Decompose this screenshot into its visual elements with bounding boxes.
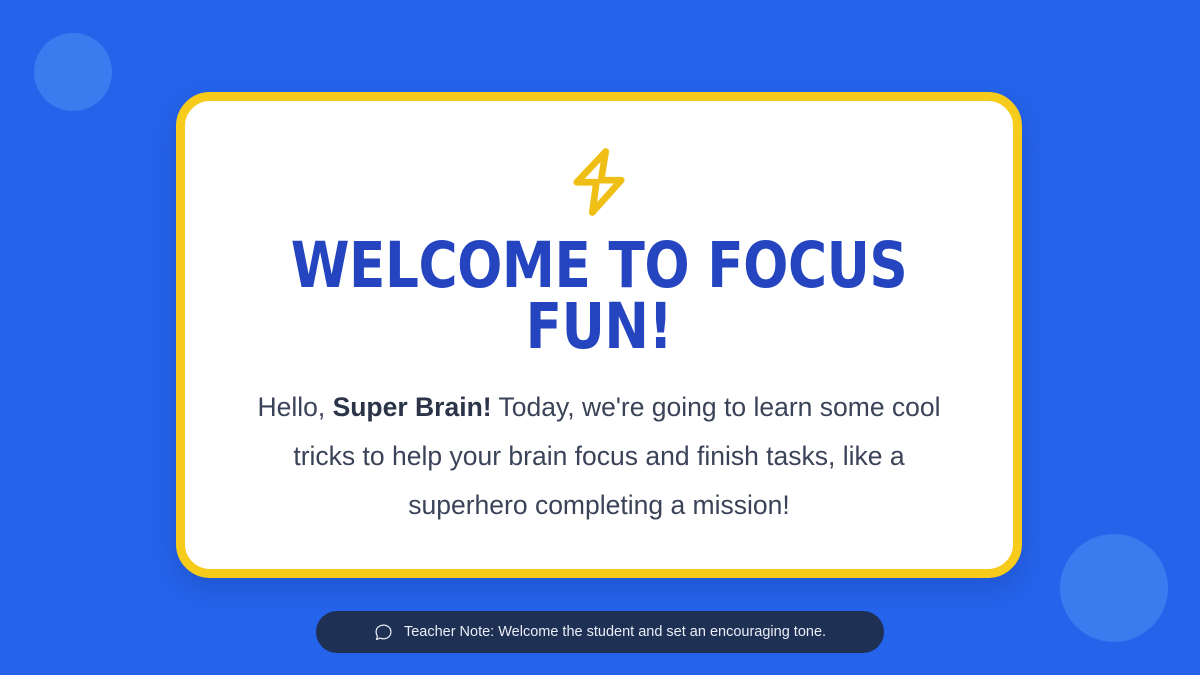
body-highlight: Super Brain! bbox=[333, 392, 492, 422]
decorative-circle-bottom-right bbox=[1060, 534, 1168, 642]
decorative-circle-top-left bbox=[34, 33, 112, 111]
page-title: Welcome to Focus Fun! bbox=[264, 235, 933, 357]
speech-bubble-icon bbox=[374, 623, 393, 642]
lightning-bolt-icon bbox=[568, 145, 630, 219]
card-body-text: Hello, Super Brain! Today, we're going t… bbox=[243, 383, 955, 530]
teacher-note-text: Teacher Note: Welcome the student and se… bbox=[404, 625, 826, 640]
slide-canvas: Welcome to Focus Fun! Hello, Super Brain… bbox=[0, 0, 1200, 675]
content-card: Welcome to Focus Fun! Hello, Super Brain… bbox=[176, 92, 1022, 578]
body-lead: Hello, bbox=[257, 392, 332, 422]
teacher-note-bar: Teacher Note: Welcome the student and se… bbox=[316, 611, 884, 653]
